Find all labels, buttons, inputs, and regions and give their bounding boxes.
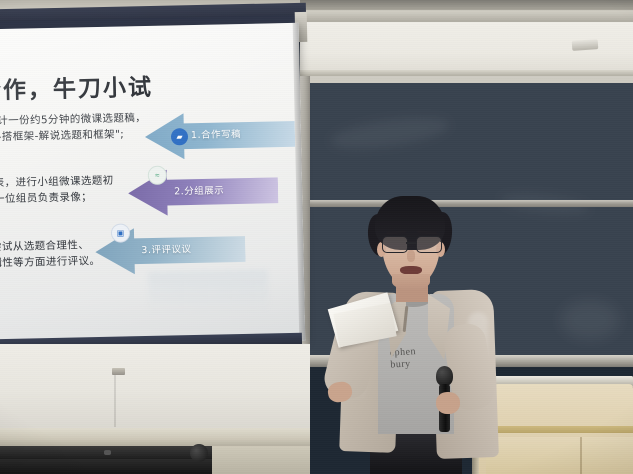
podium-panel-split bbox=[580, 437, 582, 474]
presentation-slide: 合作，牛刀小试 共同设计一份约5分钟的微课选题稿， 定选题-搭框架-解说选题和框… bbox=[0, 41, 305, 317]
arrow-label: 1.合作写稿 bbox=[191, 126, 241, 141]
slide-decoration bbox=[148, 269, 269, 314]
slide-arrow-2: ≈ 2.分组展示 bbox=[128, 167, 279, 216]
slide-body-line: 名代表，进行小组微课选题初 bbox=[0, 173, 114, 192]
lower-wall bbox=[0, 344, 310, 430]
ceiling-seam bbox=[300, 0, 633, 10]
rail-fastener bbox=[104, 450, 111, 455]
wall-ledge bbox=[0, 428, 310, 446]
slide-body-block-2: 名代表，进行小组微课选题初 稿，一位组员负责录像； bbox=[0, 173, 114, 208]
presenter: ephen bury bbox=[318, 196, 518, 474]
glasses-lens-left bbox=[382, 236, 408, 253]
slide-body-line: 定选题-搭框架-解说选题和框架"; bbox=[0, 126, 147, 146]
projection-screen: 合作，牛刀小试 共同设计一份约5分钟的微课选题稿， 定选题-搭框架-解说选题和框… bbox=[0, 23, 305, 347]
slide-body-block-3: 评，尝试从选题合理性、 说逻辑性等方面进行评议。 bbox=[0, 237, 101, 272]
slide-body-line: 稿，一位组员负责录像； bbox=[0, 189, 114, 208]
slide-body-line: 说逻辑性等方面进行评议。 bbox=[0, 253, 101, 272]
arrow-label: 3.评评议议 bbox=[141, 241, 191, 256]
lower-right-wall bbox=[212, 446, 310, 474]
wall-seam bbox=[114, 375, 116, 427]
arrow-label: 2.分组展示 bbox=[174, 182, 224, 197]
rail-knob bbox=[190, 444, 208, 462]
chin bbox=[392, 274, 430, 290]
classroom-photo: 合作，牛刀小试 共同设计一份约5分钟的微课选题稿， 定选题-搭框架-解说选题和框… bbox=[0, 0, 633, 474]
nose bbox=[407, 250, 415, 262]
front-rail-lower bbox=[0, 459, 212, 474]
wall-hook bbox=[112, 368, 125, 375]
slide-title: 合作，牛刀小试 bbox=[0, 68, 153, 106]
glasses-lens-right bbox=[416, 236, 442, 253]
slide-body-block-1: 共同设计一份约5分钟的微课选题稿， 定选题-搭框架-解说选题和框架"; bbox=[0, 110, 147, 146]
microphone-head bbox=[436, 366, 453, 386]
glasses-bridge bbox=[406, 242, 416, 244]
slide-arrow-3: ▣ 3.评评议议 bbox=[95, 226, 246, 275]
slide-arrow-1: ▰ 1.合作写稿 bbox=[145, 111, 296, 160]
hand-right bbox=[436, 392, 460, 414]
ceiling-clip bbox=[572, 39, 599, 51]
